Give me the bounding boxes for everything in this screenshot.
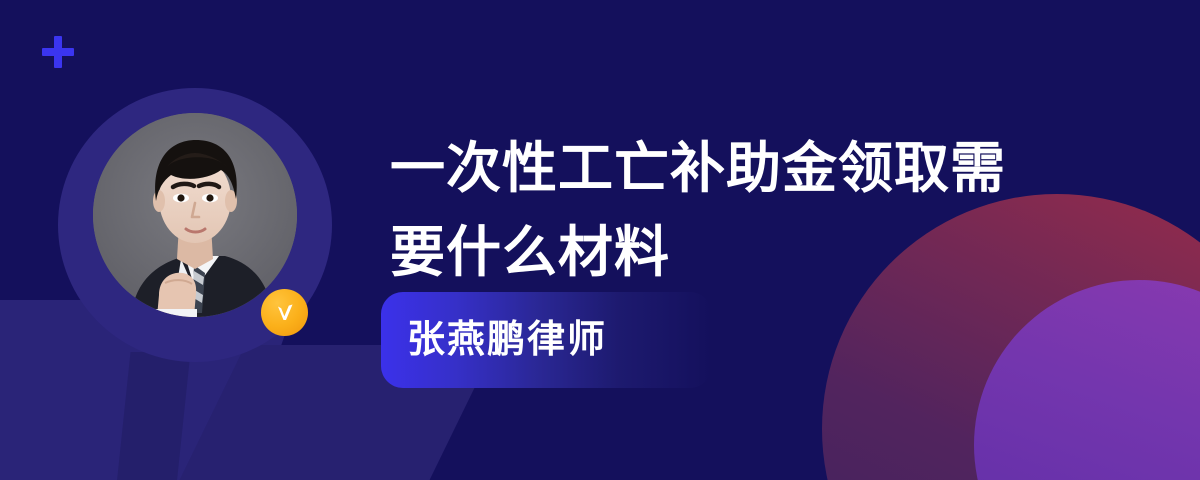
avatar-photo — [93, 113, 297, 317]
author-name-badge[interactable]: 张燕鹏律师 — [381, 292, 712, 388]
diagonal-slab-middle — [109, 352, 190, 480]
author-name-label: 张燕鹏律师 — [407, 321, 607, 359]
headline-block: 一次性工亡补助金领取需 要什么材料 — [390, 126, 1090, 294]
lawyer-question-banner: 一次性工亡补助金领取需 要什么材料 张燕鹏律师 — [0, 0, 1200, 480]
plus-icon — [42, 36, 74, 68]
page-title: 一次性工亡补助金领取需 要什么材料 — [390, 126, 1090, 294]
avatar — [58, 88, 332, 362]
verified-badge-icon — [261, 289, 308, 336]
purple-circle-shape — [974, 280, 1200, 480]
